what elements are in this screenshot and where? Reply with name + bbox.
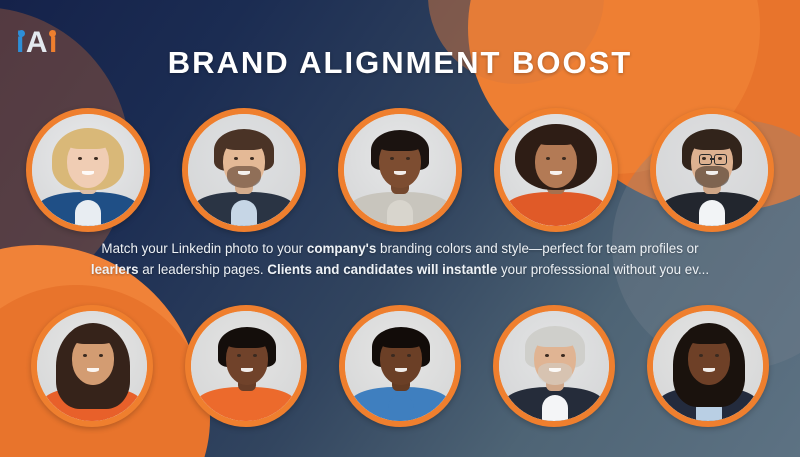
avatar-beard [538, 363, 572, 385]
avatar-eye [562, 157, 566, 160]
avatar[interactable] [338, 108, 462, 232]
avatar-photo [499, 311, 609, 421]
avatar-shirt [231, 200, 257, 226]
copy-seg-5: learlers [91, 262, 142, 277]
avatar-smile [395, 368, 407, 372]
copy-seg-1: Match your Linkedin photo to your [101, 241, 306, 256]
avatar-smile [706, 171, 718, 175]
avatar-shirt [543, 200, 569, 226]
avatar-eye [78, 157, 82, 160]
avatar-photo [37, 311, 147, 421]
avatar-hair-fringe [534, 125, 578, 145]
avatar-hair-fringe [66, 129, 110, 149]
avatar-shirt [388, 395, 414, 421]
copy-seg-4: and style—perfect for team profiles or [475, 241, 698, 256]
avatar-beard [227, 166, 261, 188]
copy-seg-3: branding colors [376, 241, 475, 256]
avatar-photo [32, 114, 144, 226]
avatar-eye [407, 354, 411, 357]
avatar-hair-fringe [533, 327, 577, 347]
avatar-eye [390, 157, 394, 160]
avatar-smile [241, 368, 253, 372]
portrait-row-bottom [0, 305, 800, 427]
avatar-hair-fringe [379, 328, 423, 348]
avatar-shirt [234, 395, 260, 421]
avatar-smile [238, 171, 250, 175]
avatar-hair-fringe [378, 131, 422, 151]
avatar-eye [250, 157, 254, 160]
avatar-eye [715, 354, 719, 357]
avatar-shirt [699, 200, 725, 226]
avatar-eye [391, 354, 395, 357]
avatar-eye [234, 157, 238, 160]
avatar-hair-fringe [222, 130, 266, 150]
glasses-bridge-icon [710, 158, 714, 160]
avatar-eye [545, 354, 549, 357]
avatar[interactable] [31, 305, 153, 427]
avatar-photo [653, 311, 763, 421]
avatar-eye [699, 354, 703, 357]
body-copy: Match your Linkedin photo to your compan… [40, 238, 760, 280]
avatar-eye [406, 157, 410, 160]
avatar-smile [703, 368, 715, 372]
avatar-eye [253, 354, 257, 357]
copy-seg-2: company's [307, 241, 376, 256]
avatar[interactable] [182, 108, 306, 232]
portrait-row-top [0, 108, 800, 232]
avatar[interactable] [26, 108, 150, 232]
avatar-eye [546, 157, 550, 160]
avatar-hair-fringe [225, 328, 269, 348]
copy-seg-8: your professsional without you ev... [497, 262, 709, 277]
avatar-smile [549, 368, 561, 372]
copy-seg-6: ar leadership pages. [142, 262, 267, 277]
avatar-hair-fringe [687, 324, 731, 344]
promo-graphic: i A i BRAND ALIGNMENT BOOST Match your L… [0, 0, 800, 457]
avatar-smile [87, 368, 99, 372]
avatar-face [535, 138, 577, 188]
page-title: BRAND ALIGNMENT BOOST [0, 45, 800, 81]
avatar-eye [561, 354, 565, 357]
avatar-photo [345, 311, 455, 421]
avatar-smile [550, 171, 562, 175]
avatar-shirt [542, 395, 568, 421]
avatar[interactable] [647, 305, 769, 427]
avatar[interactable] [185, 305, 307, 427]
logo-dot-orange-icon [49, 30, 56, 37]
avatar-photo [656, 114, 768, 226]
avatar-eye [237, 354, 241, 357]
avatar-shirt [387, 200, 413, 226]
avatar-smile [82, 171, 94, 175]
avatar[interactable] [339, 305, 461, 427]
avatar-shirt [75, 200, 101, 226]
avatar-photo [344, 114, 456, 226]
avatar[interactable] [650, 108, 774, 232]
copy-seg-7: Clients and candidates will instantle [267, 262, 497, 277]
avatar[interactable] [494, 108, 618, 232]
glasses-icon [714, 154, 727, 165]
avatar-photo [500, 114, 612, 226]
avatar-photo [188, 114, 300, 226]
avatar-smile [394, 171, 406, 175]
avatar-eye [94, 157, 98, 160]
avatar-hair-fringe [690, 130, 734, 150]
avatar-hair-fringe [71, 324, 115, 344]
avatar-eye [83, 354, 87, 357]
avatar[interactable] [493, 305, 615, 427]
avatar-eye [99, 354, 103, 357]
logo-dot-blue-icon [18, 30, 25, 37]
avatar-photo [191, 311, 301, 421]
avatar-beard [695, 166, 729, 188]
